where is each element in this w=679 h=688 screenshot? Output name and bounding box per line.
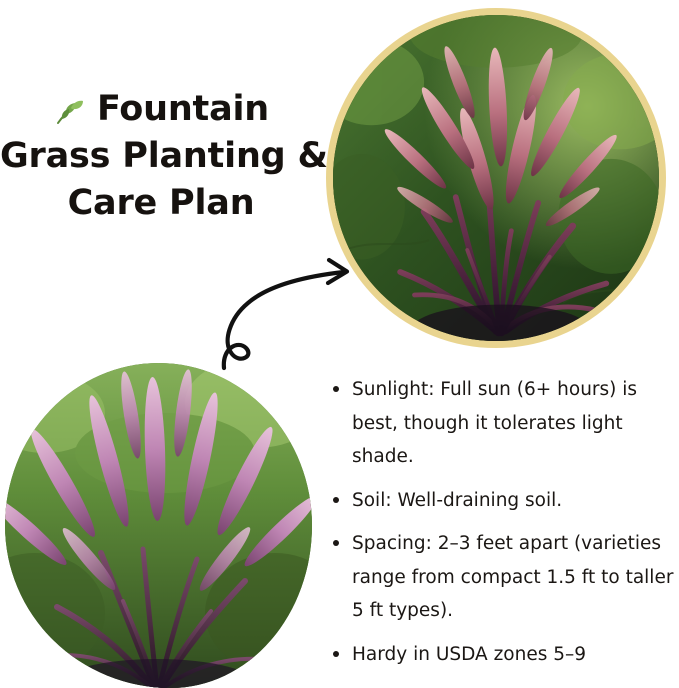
list-item-text: Spacing: 2–3 feet apart (varieties range…	[352, 533, 673, 621]
list-item: Sunlight: Full sun (6+ hours) is best, t…	[330, 373, 675, 474]
list-item: Soil: Well-draining soil.	[330, 484, 675, 518]
title-line-1: Fountain	[0, 86, 322, 133]
purple-fountain-grass-plumes-photo	[5, 363, 312, 688]
list-item: Hardy in USDA zones 5–9	[330, 638, 675, 672]
leaf-icon	[53, 95, 87, 129]
title-text-1: Fountain	[97, 86, 269, 133]
bullet-dot-icon	[333, 540, 339, 546]
bullet-dot-icon	[333, 386, 339, 392]
care-plan-page: Fountain Grass Planting & Care Plan	[0, 0, 679, 688]
care-points-list: Sunlight: Full sun (6+ hours) is best, t…	[330, 373, 675, 671]
title-text-2: Grass Planting &	[0, 133, 322, 180]
page-title: Fountain Grass Planting & Care Plan	[0, 86, 322, 227]
list-item-text: Sunlight: Full sun (6+ hours) is best, t…	[352, 379, 637, 467]
list-item-text: Hardy in USDA zones 5–9	[352, 644, 586, 665]
list-item-text: Soil: Well-draining soil.	[352, 490, 562, 511]
title-text-3: Care Plan	[0, 180, 322, 227]
curved-loop-arrow	[212, 248, 372, 373]
purple-fountain-grass-clump-photo	[326, 8, 666, 348]
list-item: Spacing: 2–3 feet apart (varieties range…	[330, 527, 675, 628]
bullet-dot-icon	[333, 651, 339, 657]
bullet-dot-icon	[333, 497, 339, 503]
